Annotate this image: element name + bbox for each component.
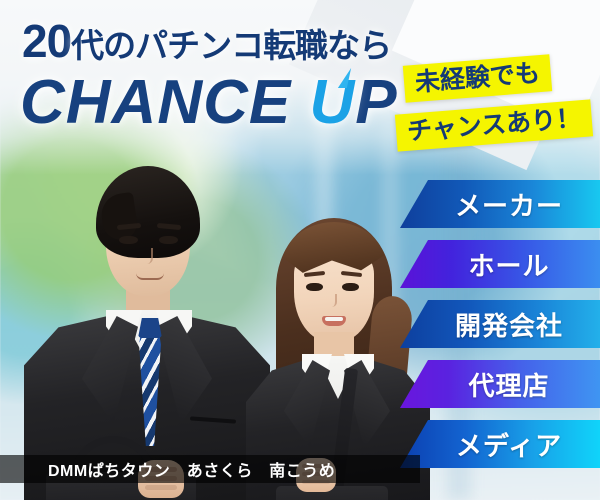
- category-button-developer[interactable]: 開発会社: [400, 300, 600, 348]
- category-button-list: メーカー ホール 開発会社 代理店 メディア: [400, 180, 600, 480]
- category-button-media[interactable]: メディア: [400, 420, 600, 468]
- logo-letter-u-wrap: U: [309, 72, 355, 134]
- headline-text: 20代のパチンコ転職なら: [22, 18, 391, 64]
- logo-word-chance: CHANCE: [20, 68, 291, 137]
- man-hair: [96, 166, 200, 258]
- man-eye-left: [119, 236, 138, 244]
- businessman-figure: [18, 160, 268, 500]
- credit-text: DMMぱちタウン あさくら 南こうめ: [0, 457, 335, 481]
- woman-eye-left: [306, 283, 323, 291]
- headline-number: 20: [22, 15, 71, 67]
- brand-logo: CHANCE U P: [20, 72, 398, 134]
- people-photo: [0, 140, 420, 500]
- category-button-agency[interactable]: 代理店: [400, 360, 600, 408]
- credit-bar: DMMぱちタウン あさくら 南こうめ: [0, 455, 420, 483]
- man-necktie-knot: [138, 318, 162, 338]
- woman-eye-right: [342, 283, 359, 291]
- advertisement-banner[interactable]: 20代のパチンコ転職なら CHANCE U P 未経験でも チャンスあり！ メー…: [0, 0, 600, 500]
- woman-smile: [322, 316, 346, 326]
- man-eye-right: [159, 236, 178, 244]
- headline-rest: 代のパチンコ転職なら: [71, 27, 391, 64]
- logo-letter-p: P: [355, 68, 397, 137]
- man-mouth: [136, 273, 164, 280]
- category-button-maker[interactable]: メーカー: [400, 180, 600, 228]
- category-button-hall[interactable]: ホール: [400, 240, 600, 288]
